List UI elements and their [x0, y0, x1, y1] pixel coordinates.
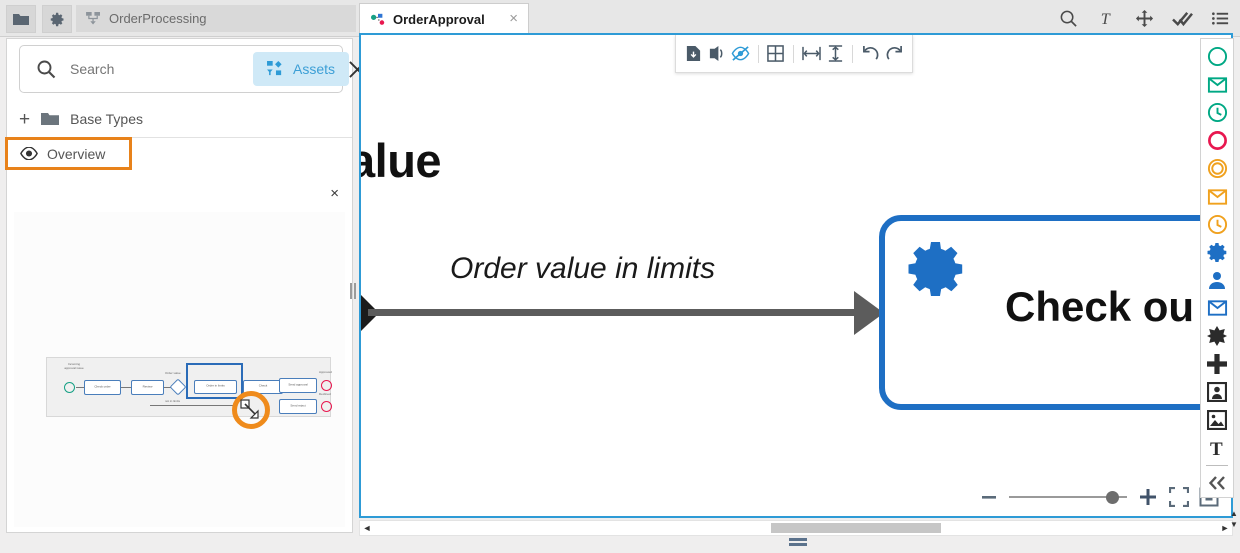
bpmn-diagram-icon — [371, 13, 385, 26]
timer-start-event-icon[interactable] — [1202, 99, 1232, 127]
tab-label: OrderApproval — [393, 12, 485, 27]
minimap-viewport[interactable] — [186, 363, 243, 399]
horizontal-scrollbar[interactable]: ◄ ► — [359, 520, 1233, 536]
distribute-horizontal-icon[interactable] — [802, 41, 821, 67]
search-icon — [36, 59, 56, 79]
minimap-node: Review — [131, 380, 164, 395]
grip-line — [789, 543, 807, 546]
collapse-palette-icon[interactable] — [1202, 469, 1232, 497]
overview-body: Incomingapproval issue Check order Revie… — [14, 212, 345, 527]
minimap-node: Send approval — [279, 378, 317, 393]
move-icon[interactable] — [1132, 4, 1156, 32]
hide-icon[interactable] — [731, 41, 750, 67]
redo-icon[interactable] — [885, 41, 904, 67]
message-start-event-icon[interactable] — [1202, 71, 1232, 99]
eye-icon — [20, 147, 38, 160]
minimap-label: Approved — [319, 370, 332, 374]
service-task-node[interactable]: Check ou — [879, 215, 1233, 410]
assets-label: Assets — [293, 61, 335, 77]
tree-item-base-types[interactable]: + Base Types — [19, 101, 343, 137]
minimap-connector — [76, 387, 84, 388]
assets-icon — [267, 61, 284, 77]
clipped-gateway-label: alue — [361, 133, 441, 188]
toolbar-divider — [852, 45, 853, 63]
share-icon[interactable] — [707, 41, 725, 67]
toolbar-divider — [793, 45, 794, 63]
minimap-node: Send reject — [279, 399, 317, 414]
scroll-left-arrow[interactable]: ◄ — [360, 523, 374, 533]
scroll-up-arrow[interactable]: ▲ — [1230, 509, 1238, 518]
task-label: Check ou — [1005, 283, 1194, 331]
panel-splitter[interactable] — [348, 282, 357, 300]
sequence-flow-label: Order value in limits — [450, 252, 715, 286]
vertical-scrollbar-arrows[interactable]: ▲ ▼ — [1228, 505, 1240, 533]
undo-icon[interactable] — [861, 41, 880, 67]
minimap-connector — [150, 405, 236, 406]
tab-label: OrderProcessing — [109, 11, 207, 26]
settings-button[interactable] — [42, 5, 72, 33]
bottom-resize-grip[interactable] — [789, 538, 807, 547]
overview-title: Overview — [47, 146, 105, 162]
folder-icon — [41, 112, 59, 126]
tab-order-approval[interactable]: OrderApproval × — [359, 3, 529, 34]
diagram-viewport: alue Order value in limits Check ou — [361, 35, 1233, 518]
folder-icon — [13, 13, 29, 26]
fit-screen-button[interactable] — [1169, 487, 1189, 507]
element-palette: T — [1200, 38, 1234, 498]
service-task-gear-icon — [907, 239, 967, 304]
zoom-out-button[interactable] — [979, 487, 999, 507]
cursor-highlight — [232, 391, 270, 429]
left-panel: Assets + Base Types × Incomingapproval i… — [6, 38, 353, 533]
message-intermediate-event-icon[interactable] — [1202, 183, 1232, 211]
minimap-label: Declined — [319, 392, 331, 396]
list-icon[interactable] — [1208, 4, 1232, 32]
assets-filter-button[interactable]: Assets — [253, 52, 349, 86]
minimap-end-event — [321, 380, 332, 391]
resize-cursor-icon — [240, 399, 262, 421]
search-box: Assets — [19, 45, 343, 93]
text-annotation-icon[interactable]: T — [1202, 434, 1232, 462]
minimap-connector — [121, 387, 131, 388]
zoom-controls — [979, 486, 1219, 508]
grip-line — [789, 538, 807, 541]
expand-icon[interactable]: + — [19, 110, 30, 129]
minimap-label: Order value — [165, 371, 181, 375]
toolbar-divider — [758, 45, 759, 63]
tab-close-button[interactable]: × — [509, 11, 518, 26]
service-task-icon[interactable] — [1202, 239, 1232, 267]
image-icon[interactable] — [1202, 406, 1232, 434]
minimap-gateway — [170, 379, 187, 396]
folder-button[interactable] — [6, 5, 36, 33]
distribute-vertical-icon[interactable] — [826, 41, 844, 67]
double-check-icon[interactable] — [1170, 4, 1194, 32]
tab-order-processing[interactable]: OrderProcessing — [76, 5, 356, 32]
element-toolbar — [675, 35, 913, 73]
start-event-icon[interactable] — [1202, 43, 1232, 71]
grid-icon[interactable] — [767, 41, 785, 67]
end-event-icon[interactable] — [1202, 127, 1232, 155]
scroll-thumb[interactable] — [771, 523, 941, 533]
export-file-icon[interactable] — [684, 41, 702, 67]
top-bar: OrderProcessing OrderApproval × T — [0, 0, 1240, 37]
minimap-end-event — [321, 401, 332, 412]
minimap-start-event — [64, 382, 75, 393]
svg-text:T: T — [1210, 439, 1223, 458]
splitter-grip-line — [354, 283, 356, 299]
user-task-icon[interactable] — [1202, 267, 1232, 295]
participant-icon[interactable] — [1202, 378, 1232, 406]
minimap-node: Check order — [84, 380, 121, 395]
search-icon[interactable] — [1056, 4, 1080, 32]
splitter-grip-line — [350, 283, 352, 299]
search-input[interactable] — [68, 60, 253, 78]
timer-intermediate-event-icon[interactable] — [1202, 211, 1232, 239]
scroll-track[interactable] — [374, 520, 1218, 536]
text-format-icon[interactable]: T — [1094, 4, 1118, 32]
minimap-label: Incomingapproval issue — [57, 363, 91, 370]
minimap-label: not in limits — [165, 399, 180, 403]
add-element-icon[interactable] — [1202, 350, 1232, 378]
zoom-in-button[interactable] — [1137, 486, 1159, 508]
send-task-icon[interactable] — [1202, 294, 1232, 322]
overview-close-button[interactable]: × — [330, 185, 339, 202]
intermediate-event-icon[interactable] — [1202, 155, 1232, 183]
zoom-slider-thumb[interactable] — [1106, 491, 1119, 504]
tree-item-label: Base Types — [70, 111, 143, 127]
overview-header[interactable]: Overview — [5, 137, 132, 170]
diagram-icon — [86, 12, 101, 25]
zoom-slider[interactable] — [1009, 490, 1127, 504]
multi-instance-icon[interactable] — [1202, 322, 1232, 350]
palette-divider — [1206, 465, 1228, 466]
scroll-down-arrow[interactable]: ▼ — [1230, 520, 1238, 529]
svg-text:T: T — [1100, 11, 1110, 28]
sequence-flow-line — [368, 309, 868, 316]
gear-icon — [50, 12, 65, 27]
minimap[interactable]: Incomingapproval issue Check order Revie… — [46, 357, 331, 417]
diagram-canvas[interactable]: alue Order value in limits Check ou — [359, 33, 1233, 518]
top-right-icon-group: T — [1056, 4, 1232, 32]
